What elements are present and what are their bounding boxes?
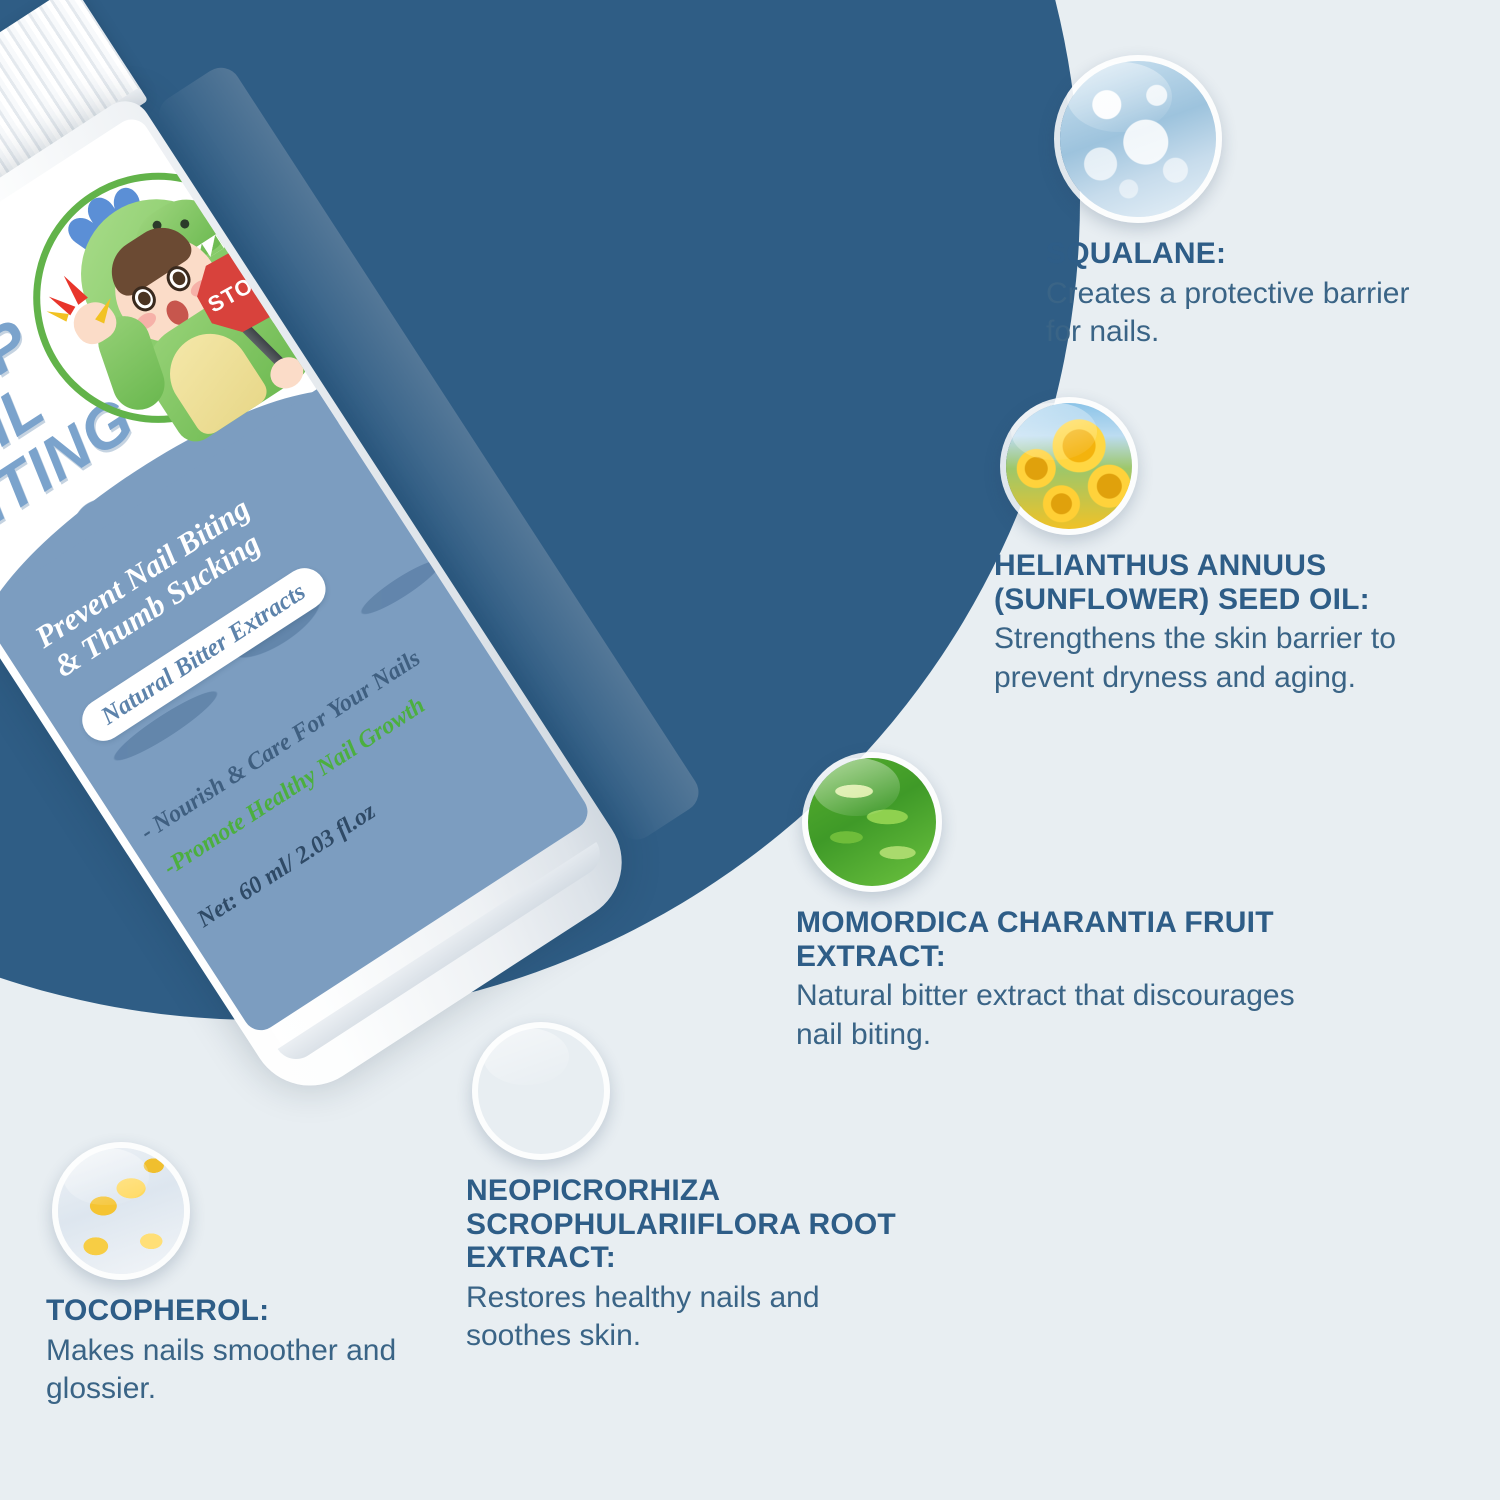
ingredient-description-sunflower: Strengthens the skin barrier to prevent … xyxy=(994,620,1494,697)
ingredient-description-tocopherol: Makes nails smoother and glossier. xyxy=(46,1332,436,1409)
vitamin-e-capsules-image xyxy=(52,1142,190,1280)
ingredient-name-tocopherol: TOCOPHEROL: xyxy=(46,1294,436,1328)
ingredient-squalane: SQUALANE: Creates a protective barrier f… xyxy=(1044,55,1446,351)
squalane-gel-bubble-image xyxy=(1054,55,1222,223)
ingredient-momordica: MOMORDICA CHARANTIA FRUIT EXTRACT: Natur… xyxy=(796,752,1296,1054)
bitter-melon-image xyxy=(802,752,942,892)
ingredient-neopicrorhiza: NEOPICRORHIZA SCROPHULARIIFLORA ROOT EXT… xyxy=(466,1022,906,1356)
ingredient-name-neopicrorhiza: NEOPICRORHIZA SCROPHULARIIFLORA ROOT EXT… xyxy=(466,1174,906,1275)
ingredient-name-sunflower: HELIANTHUS ANNUUS (SUNFLOWER) SEED OIL: xyxy=(994,549,1494,616)
ingredient-name-momordica: MOMORDICA CHARANTIA FRUIT EXTRACT: xyxy=(796,906,1296,973)
ingredient-description-squalane: Creates a protective barrier for nails. xyxy=(1046,275,1446,352)
dried-root-slices-image xyxy=(472,1022,610,1160)
ingredient-sunflower: HELIANTHUS ANNUUS (SUNFLOWER) SEED OIL: … xyxy=(994,397,1494,697)
infographic-canvas: STOP NAIL BITING Prevent Nail Biting & T… xyxy=(0,0,1500,1500)
sunflower-field-image xyxy=(1000,397,1138,535)
ingredient-tocopherol: TOCOPHEROL: Makes nails smoother and glo… xyxy=(46,1142,436,1408)
ingredient-name-squalane: SQUALANE: xyxy=(1046,237,1446,271)
ingredient-description-neopicrorhiza: Restores healthy nails and soothes skin. xyxy=(466,1279,906,1356)
